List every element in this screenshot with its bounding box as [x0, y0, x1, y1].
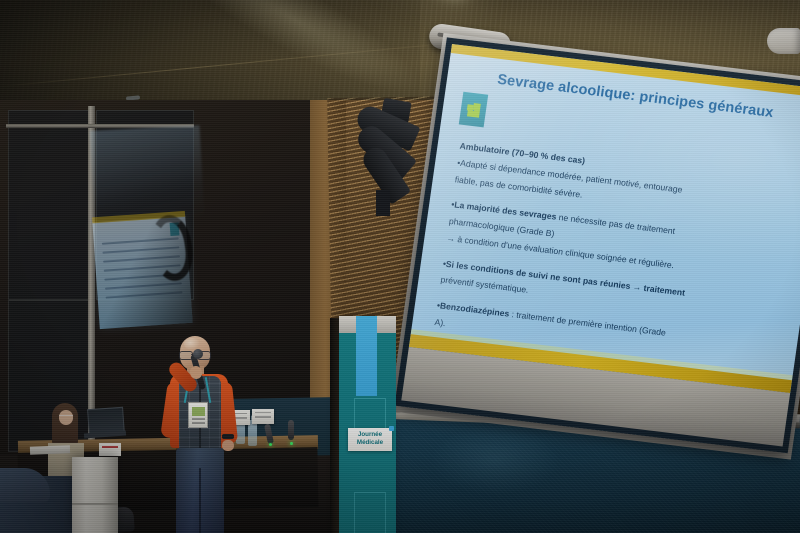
mic-status-led: [290, 442, 293, 445]
banner-label: Journée Médicale: [348, 428, 392, 451]
banner-outline-shape: [354, 492, 386, 533]
bullet-3-line-1: préventif systématique.: [440, 275, 529, 296]
banner-accent-dot: [389, 426, 394, 431]
mic-status-led: [269, 443, 272, 446]
column-seam: [72, 503, 118, 505]
attendee-glasses-icon: [59, 415, 73, 419]
papers-on-table: [30, 445, 70, 454]
presenter: [150, 336, 250, 533]
glass-pane: [8, 300, 92, 452]
glass-pane: [8, 110, 92, 300]
puzzle-glyph: [466, 102, 481, 117]
jeans-inseam: [199, 468, 201, 533]
table-signage: [99, 443, 121, 456]
presenter-right-hand: [222, 440, 234, 451]
projection-screen: Sevrage alcoolique: principes généraux A…: [401, 44, 800, 447]
bullet-2-line-1: ne nécessite pas de traitement: [556, 212, 676, 236]
bullet-4-lead: •Benzodiazépines: [436, 300, 510, 319]
bullet-4-line-2: A).: [434, 317, 446, 328]
banner-label-line-1: Journée: [350, 431, 390, 439]
foreground-light-column: [72, 457, 118, 533]
banner-blue-stripe: [356, 316, 377, 396]
wall-speaker-array: [352, 100, 424, 212]
puzzle-piece-logo-icon: [459, 92, 488, 128]
glass-glare: [90, 125, 205, 223]
name-card: [252, 409, 274, 424]
lecture-hall-photo: Sevrage alcoolique: principes généraux A…: [0, 0, 800, 533]
presentation-slide: Sevrage alcoolique: principes généraux A…: [409, 44, 800, 393]
wall-light-sheen: [430, 425, 560, 495]
wristwatch-icon: [222, 434, 234, 439]
projection-screen-assembly: Sevrage alcoolique: principes généraux A…: [424, 10, 800, 430]
banner-label-line-2: Médicale: [350, 439, 390, 447]
table-microphone: [288, 420, 294, 440]
conference-badge: [188, 402, 208, 428]
bullet-4-line-1: : traitement de première intention (Grad…: [509, 309, 667, 338]
microphone-capsule-icon: [193, 349, 203, 359]
rollup-banner: Journée Médicale: [339, 316, 396, 533]
speaker-stem-icon: [376, 190, 390, 216]
